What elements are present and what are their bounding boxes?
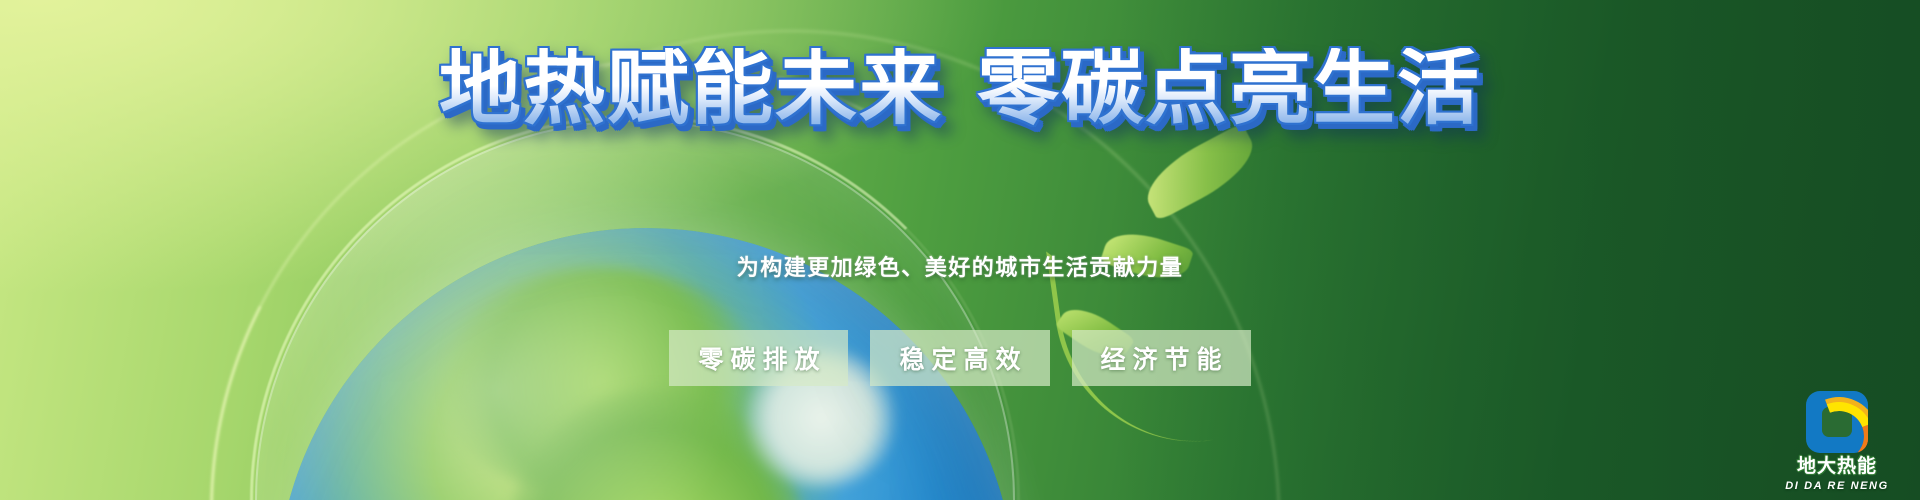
brand-name-cn: 地大热能	[1776, 457, 1898, 478]
banner-title: 地热赋能未来零碳点亮生活	[0, 48, 1920, 130]
banner-subtitle: 为构建更加绿色、美好的城市生活贡献力量	[0, 250, 1920, 282]
feature-badge-list: 零碳排放 稳定高效 经济节能	[0, 330, 1920, 386]
feature-badge[interactable]: 经济节能	[1072, 330, 1251, 386]
promo-banner: 地热赋能未来零碳点亮生活 为构建更加绿色、美好的城市生活贡献力量 零碳排放 稳定…	[0, 0, 1920, 500]
banner-title-part-2: 零碳点亮生活	[977, 43, 1481, 134]
didareneng-logo-mark-icon	[1806, 391, 1868, 453]
feature-badge[interactable]: 稳定高效	[870, 330, 1049, 386]
banner-title-part-1: 地热赋能未来	[439, 43, 943, 134]
feature-badge[interactable]: 零碳排放	[669, 330, 848, 386]
brand-name-en: DI DA RE NENG	[1776, 480, 1898, 492]
brand-logo[interactable]: 地大热能 DI DA RE NENG	[1776, 391, 1898, 492]
banner-content: 地热赋能未来零碳点亮生活 为构建更加绿色、美好的城市生活贡献力量 零碳排放 稳定…	[0, 0, 1920, 500]
